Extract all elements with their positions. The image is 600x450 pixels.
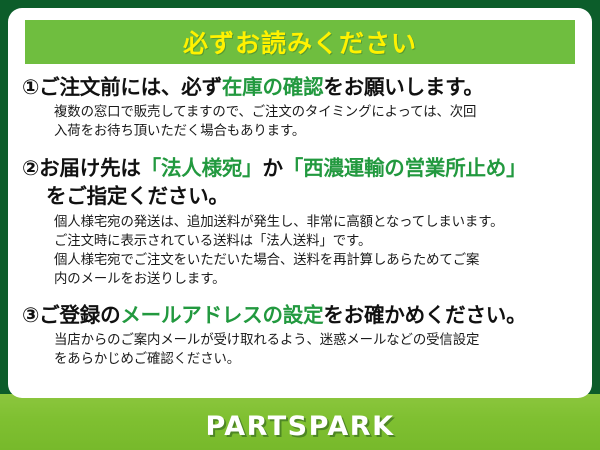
notice-item-1-note-line-1: 複数の窓口で販売してますので、ご注文のタイミングによっては、次回 [54,103,580,122]
notice-item-3-text-post: をお確かめください。 [323,303,526,327]
notice-banner: PARTSPARK 必ずお読みください ①ご注文前には、必ず在庫の確認をお願いし… [0,0,600,450]
notice-item-3-text-pre: ご登録の [39,303,120,327]
content-card: 必ずお読みください ①ご注文前には、必ず在庫の確認をお願いします。 複数の窓口で… [8,8,592,398]
notice-item-3-marker: ③ [22,303,39,327]
notice-item-3-note-line-2: をあらかじめご確認ください。 [54,350,580,369]
notice-item-2-heading: ②お届け先は「法人様宛」か「西濃運輸の営業所止め」 をご指定ください。 [22,155,580,210]
notice-item-1-text-post: をお願いします。 [323,75,483,99]
notice-item-2-highlight-a: 「法人様宛」 [141,156,263,180]
notice-item-3: ③ご登録のメールアドレスの設定をお確かめください。 当店からのご案内メールが受け… [22,302,580,369]
notice-item-1-text-pre: ご注文前には、必ず [39,75,222,99]
notice-item-2-note-line-3: 個人様宅宛でご注文をいただいた場合、送料を再計算しあらためてご案 [54,251,580,270]
notice-item-2-text-mid: か [262,156,282,180]
notice-item-2-heading-line-2: をご指定ください。 [22,183,580,210]
notice-item-2-note: 個人様宅宛の発送は、追加送料が発生し、非常に高額となってしまいます。 ご注文時に… [22,213,580,289]
notice-item-2-highlight-b: 「西濃運輸の営業所止め」 [283,156,527,180]
notice-item-1-highlight: 在庫の確認 [222,75,324,99]
notice-item-2: ②お届け先は「法人様宛」か「西濃運輸の営業所止め」 をご指定ください。 個人様宅… [22,155,580,289]
notice-item-3-heading: ③ご登録のメールアドレスの設定をお確かめください。 [22,302,580,329]
notice-item-2-note-line-2: ご注文時に表示されている送料は「法人送料」です。 [54,232,580,251]
notice-item-1: ①ご注文前には、必ず在庫の確認をお願いします。 複数の窓口で販売してますので、ご… [22,74,580,141]
brand-logo: PARTSPARK [0,411,600,442]
notice-list: ①ご注文前には、必ず在庫の確認をお願いします。 複数の窓口で販売してますので、ご… [22,72,580,371]
title-bar: 必ずお読みください [25,20,575,64]
notice-item-1-note-line-2: 入荷をお待ち頂いただく場合もあります。 [54,122,580,141]
notice-item-3-note-line-1: 当店からのご案内メールが受け取れるよう、迷惑メールなどの受信設定 [54,331,580,350]
notice-item-2-note-line-1: 個人様宅宛の発送は、追加送料が発生し、非常に高額となってしまいます。 [54,213,580,232]
notice-item-2-text-pre: お届け先は [39,156,141,180]
notice-item-1-heading: ①ご注文前には、必ず在庫の確認をお願いします。 [22,74,580,101]
notice-item-3-highlight: メールアドレスの設定 [120,303,323,327]
notice-item-1-note: 複数の窓口で販売してますので、ご注文のタイミングによっては、次回 入荷をお待ち頂… [22,103,580,141]
notice-item-2-marker: ② [22,156,39,180]
notice-item-3-note: 当店からのご案内メールが受け取れるよう、迷惑メールなどの受信設定 をあらかじめご… [22,331,580,369]
notice-item-2-note-line-4: 内のメールをお送りします。 [54,270,580,289]
page-title: 必ずお読みください [183,24,417,60]
footer-band: PARTSPARK [0,394,600,450]
notice-item-1-marker: ① [22,75,39,99]
